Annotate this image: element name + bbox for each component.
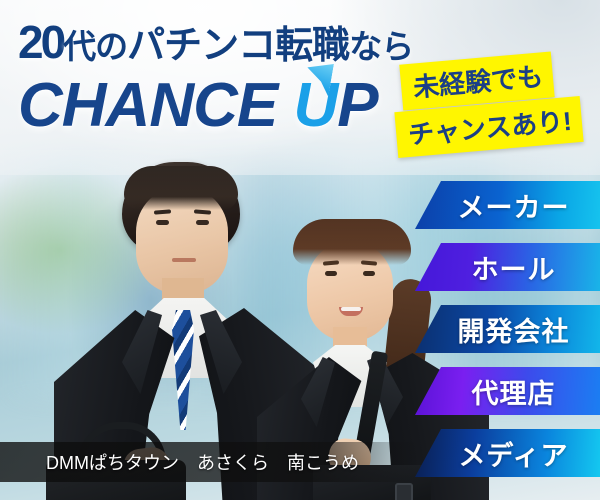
headline-suffix: 代の <box>63 28 127 65</box>
caption-text: DMMぱちタウン あさくら 南こうめ <box>0 449 359 475</box>
male-mouth <box>172 258 196 262</box>
logo-letter-u: U <box>293 70 337 141</box>
category-bar-agency[interactable]: 代理店 <box>415 367 600 415</box>
headline-keyword: パチンコ転職 <box>127 25 349 67</box>
category-bar-maker[interactable]: メーカー <box>415 181 600 229</box>
category-label-media: メディア <box>446 434 568 473</box>
category-label-development-company: 開発会社 <box>446 310 570 349</box>
category-bar-media[interactable]: メディア <box>415 429 600 477</box>
logo-word-chance: CHANCE <box>18 71 277 140</box>
category-label-maker: メーカー <box>446 186 570 225</box>
category-label-agency: 代理店 <box>460 372 556 411</box>
headline-tail: なら <box>349 28 413 65</box>
male-eye-right <box>196 220 209 225</box>
category-label-hall: ホール <box>460 248 556 287</box>
chance-up-logo: CHANCE U P <box>18 70 378 141</box>
headline-number: 20 <box>18 16 63 68</box>
male-eye-left <box>156 220 169 225</box>
female-fringe <box>293 219 411 265</box>
advertisement-banner[interactable]: 20代のパチンコ転職なら CHANCE U P 未経験でも チャンスあり! メー… <box>0 0 600 500</box>
female-eye-left <box>325 271 337 276</box>
female-handbag-tag <box>395 483 413 500</box>
category-bar-development-company[interactable]: 開発会社 <box>415 305 600 353</box>
male-fringe <box>124 166 238 210</box>
category-bar-hall[interactable]: ホール <box>415 243 600 291</box>
female-eye-right <box>363 271 375 276</box>
logo-letter-p: P <box>337 71 377 140</box>
female-teeth <box>341 307 361 311</box>
headline: 20代のパチンコ転職なら <box>18 14 413 69</box>
caption-strip: DMMぱちタウン あさくら 南こうめ <box>0 442 420 482</box>
